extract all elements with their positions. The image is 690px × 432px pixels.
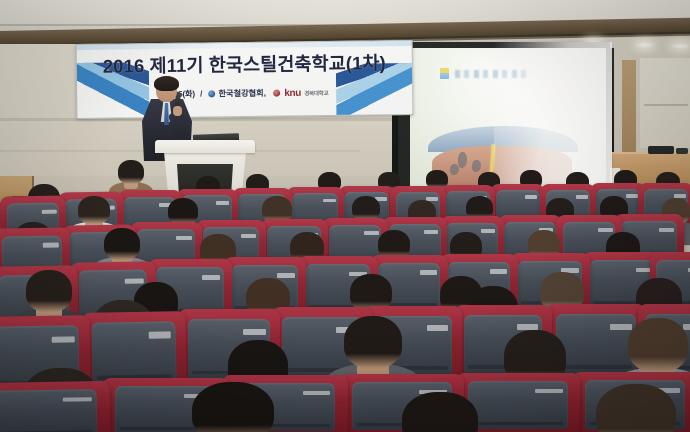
- attendee-head: [628, 318, 688, 372]
- seat-number-tag: [427, 325, 449, 331]
- seat-number-tag: [424, 230, 438, 234]
- seat-number-tag: [323, 199, 336, 203]
- seat-number-tag: [202, 275, 220, 280]
- seat-number-tag: [659, 228, 674, 232]
- auditorium-seat: [0, 381, 111, 432]
- seat-groove: [560, 365, 632, 369]
- seat-number-tag: [42, 243, 59, 248]
- seat-number-tag: [277, 273, 295, 278]
- banner-title: 2016 제11기 한국스틸건축학교(1차): [77, 49, 412, 79]
- seat-cushion: [0, 389, 97, 432]
- slide-title-text: [455, 70, 529, 78]
- control-desk-equipment: [648, 146, 674, 154]
- slide-diagram-graphic: [428, 126, 578, 186]
- attendee-head: [168, 198, 198, 225]
- attendee-head: [104, 228, 140, 260]
- seat-number-tag: [42, 209, 57, 213]
- seat-number-tag: [420, 270, 437, 275]
- slide-logo-icon: [440, 68, 449, 79]
- attendee: [118, 160, 144, 184]
- attendee: [628, 318, 688, 372]
- seat-number-tag: [176, 236, 192, 240]
- banner-knu-mark: knu: [284, 88, 301, 99]
- seat-number-tag: [148, 332, 171, 339]
- presenter-hair: [154, 76, 179, 91]
- ceiling-light: [672, 43, 689, 49]
- wall-trim-line: [0, 118, 410, 121]
- attendee-head: [402, 392, 478, 432]
- seat-groove: [473, 422, 562, 425]
- attendee: [402, 392, 478, 432]
- seat-number-tag: [576, 195, 588, 198]
- attendee: [104, 228, 140, 260]
- ceiling-light: [636, 42, 653, 48]
- attendee: [168, 198, 198, 225]
- control-desk-equipment-secondary: [676, 148, 688, 154]
- seat-number-tag: [364, 231, 379, 235]
- seat-number-tag: [490, 269, 507, 274]
- attendee: [78, 196, 110, 224]
- right-alcove-wall: [640, 58, 690, 148]
- knu-logo-icon: [273, 90, 280, 97]
- seat-number-tag: [52, 336, 75, 343]
- attendee: [192, 382, 274, 432]
- attendee: [596, 384, 676, 432]
- attendee-head: [26, 270, 72, 312]
- seat-number-tag: [535, 389, 562, 394]
- seat-number-tag: [243, 329, 265, 335]
- right-alcove-trim: [644, 104, 688, 106]
- lectern-top: [155, 140, 255, 153]
- seat-number-tag: [481, 229, 495, 233]
- seat-number-tag: [303, 391, 331, 396]
- attendee-head: [596, 384, 676, 432]
- attendee-head: [78, 196, 110, 224]
- banner-org-primary: 한국철강협회,: [218, 89, 266, 99]
- auditorium-photograph: 2016 제11기 한국스틸건축학교(1차) .10.25(화) / 한국철강협…: [0, 0, 690, 432]
- seat-number-tag: [216, 201, 230, 205]
- presenter-hand: [173, 106, 182, 116]
- seat-number-tag: [525, 195, 537, 198]
- projection-screen-frame: [398, 42, 610, 190]
- banner-separator: /: [200, 90, 202, 99]
- seat-number-tag: [63, 397, 92, 402]
- seat-number-tag: [241, 234, 256, 238]
- event-banner: 2016 제11기 한국스틸건축학교(1차) .10.25(화) / 한국철강협…: [76, 40, 414, 119]
- banner-org-secondary: 경북대학교: [304, 91, 328, 97]
- attendee-head: [118, 160, 144, 184]
- attendee-head: [344, 316, 402, 368]
- attendee: [26, 270, 72, 312]
- steel-association-logo-icon: [208, 90, 215, 97]
- attendee: [344, 316, 402, 368]
- projection-screen-surface: [410, 48, 606, 186]
- attendee-head: [192, 382, 274, 432]
